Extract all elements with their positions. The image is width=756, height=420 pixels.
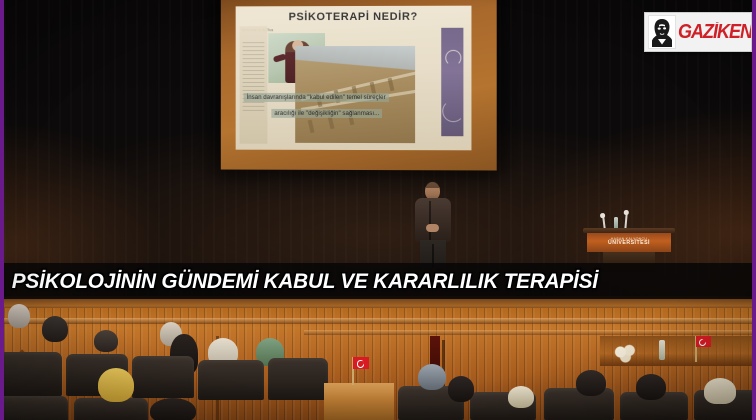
slide-title: PSİKOTERAPİ NEDİR? [236, 11, 472, 24]
rail-tie [308, 120, 315, 134]
panel-seam [442, 340, 445, 420]
turkish-flag-icon [696, 336, 711, 347]
caption-bar: PSİKOLOJİNİN GÜNDEMİ KABUL VE KARARLILIK… [4, 263, 752, 299]
lectern-banner: HASAN KALYONCU ÜNİVERSİTESİ [587, 233, 671, 252]
speaker-torso [415, 198, 451, 242]
speaker-figure [412, 182, 454, 266]
gazikent27-logo[interactable]: GAZİKENT 27 [644, 12, 752, 52]
side-table [324, 383, 394, 420]
flower-arrangement [612, 344, 640, 364]
projection-screen: PSİKOTERAPİ NEDİR? Welcome to ACTus [221, 0, 497, 170]
wood-trim-upper [4, 318, 752, 324]
news-photo: PSİKOTERAPİ NEDİR? Welcome to ACTus [0, 0, 756, 420]
slide-sidebar-graphic [240, 26, 268, 144]
speaker-hands [426, 224, 439, 232]
wood-trim-lower [304, 330, 756, 335]
logo-wordmark: GAZİKENT 27 [676, 22, 751, 42]
turkish-flag-icon [353, 357, 369, 369]
slide-body-line-2: aracılığı ile "değişikliğin" sağlanması.… [271, 109, 382, 119]
projected-slide: PSİKOTERAPİ NEDİR? Welcome to ACTus [236, 6, 472, 151]
logo-text-gazikent: GAZİKENT [678, 22, 751, 42]
rail-tie [388, 78, 395, 92]
slide-logo-band [441, 28, 463, 136]
slide-body-line-1: İnsan davranışlarında "kabul edilen" tem… [244, 93, 389, 102]
panel-seam [216, 336, 219, 420]
panel-recess [430, 336, 440, 396]
water-bottle [659, 340, 665, 360]
ataturk-portrait-icon [648, 15, 676, 49]
lectern-banner-line-2: ÜNİVERSİTESİ [608, 241, 650, 247]
caption-headline: PSİKOLOJİNİN GÜNDEMİ KABUL VE KARARLILIK… [4, 269, 598, 294]
speaker-shirt-placket [429, 201, 431, 241]
